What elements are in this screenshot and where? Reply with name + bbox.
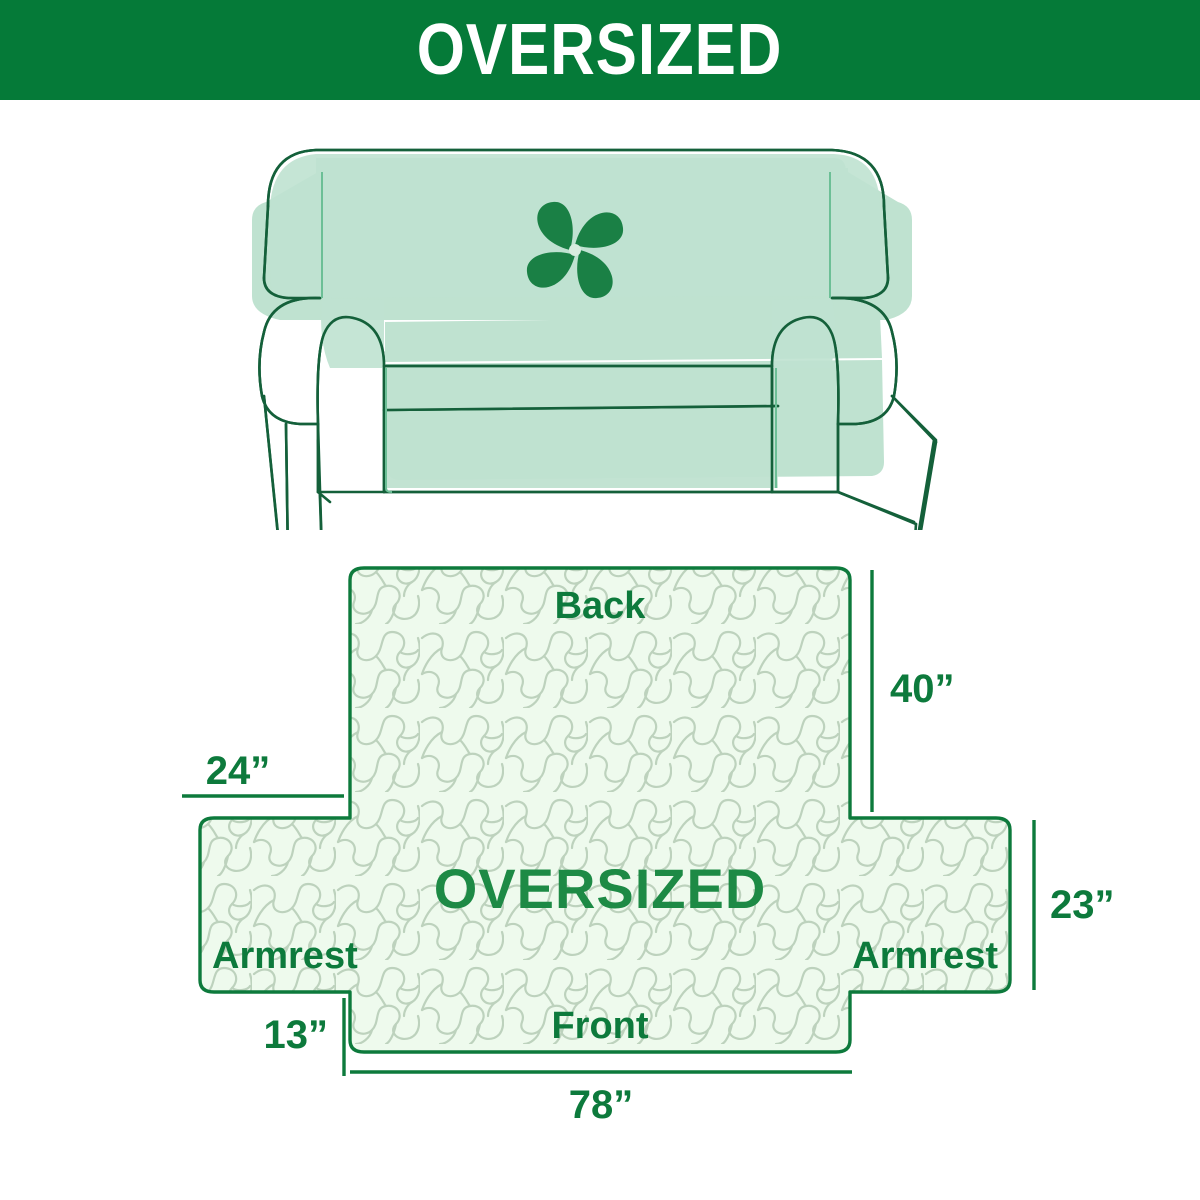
sofa-drawing [252, 150, 936, 530]
page-title: OVERSIZED [417, 14, 783, 86]
slipcover-flat-shape [200, 568, 1010, 1052]
panel-label-back: Back [555, 585, 647, 627]
sofa-illustration [0, 110, 1200, 530]
dimension-label-78: 78” [569, 1083, 634, 1127]
panel-label-front: Front [551, 1005, 648, 1047]
dimension-label-23: 23” [1050, 883, 1115, 927]
dimension-diagram: 40” 24” 23” 13” 78” Back Front Armrest A… [0, 540, 1200, 1160]
dimension-label-13: 13” [264, 1013, 329, 1057]
header-banner: OVERSIZED [0, 0, 1200, 100]
panel-label-armrest-left: Armrest [212, 935, 358, 977]
slipcover-back-panel [269, 154, 884, 298]
panel-label-armrest-right: Armrest [852, 935, 998, 977]
dimension-label-24: 24” [206, 749, 271, 793]
dimension-label-40: 40” [890, 667, 955, 711]
diagram-center-label: OVERSIZED [434, 857, 767, 920]
